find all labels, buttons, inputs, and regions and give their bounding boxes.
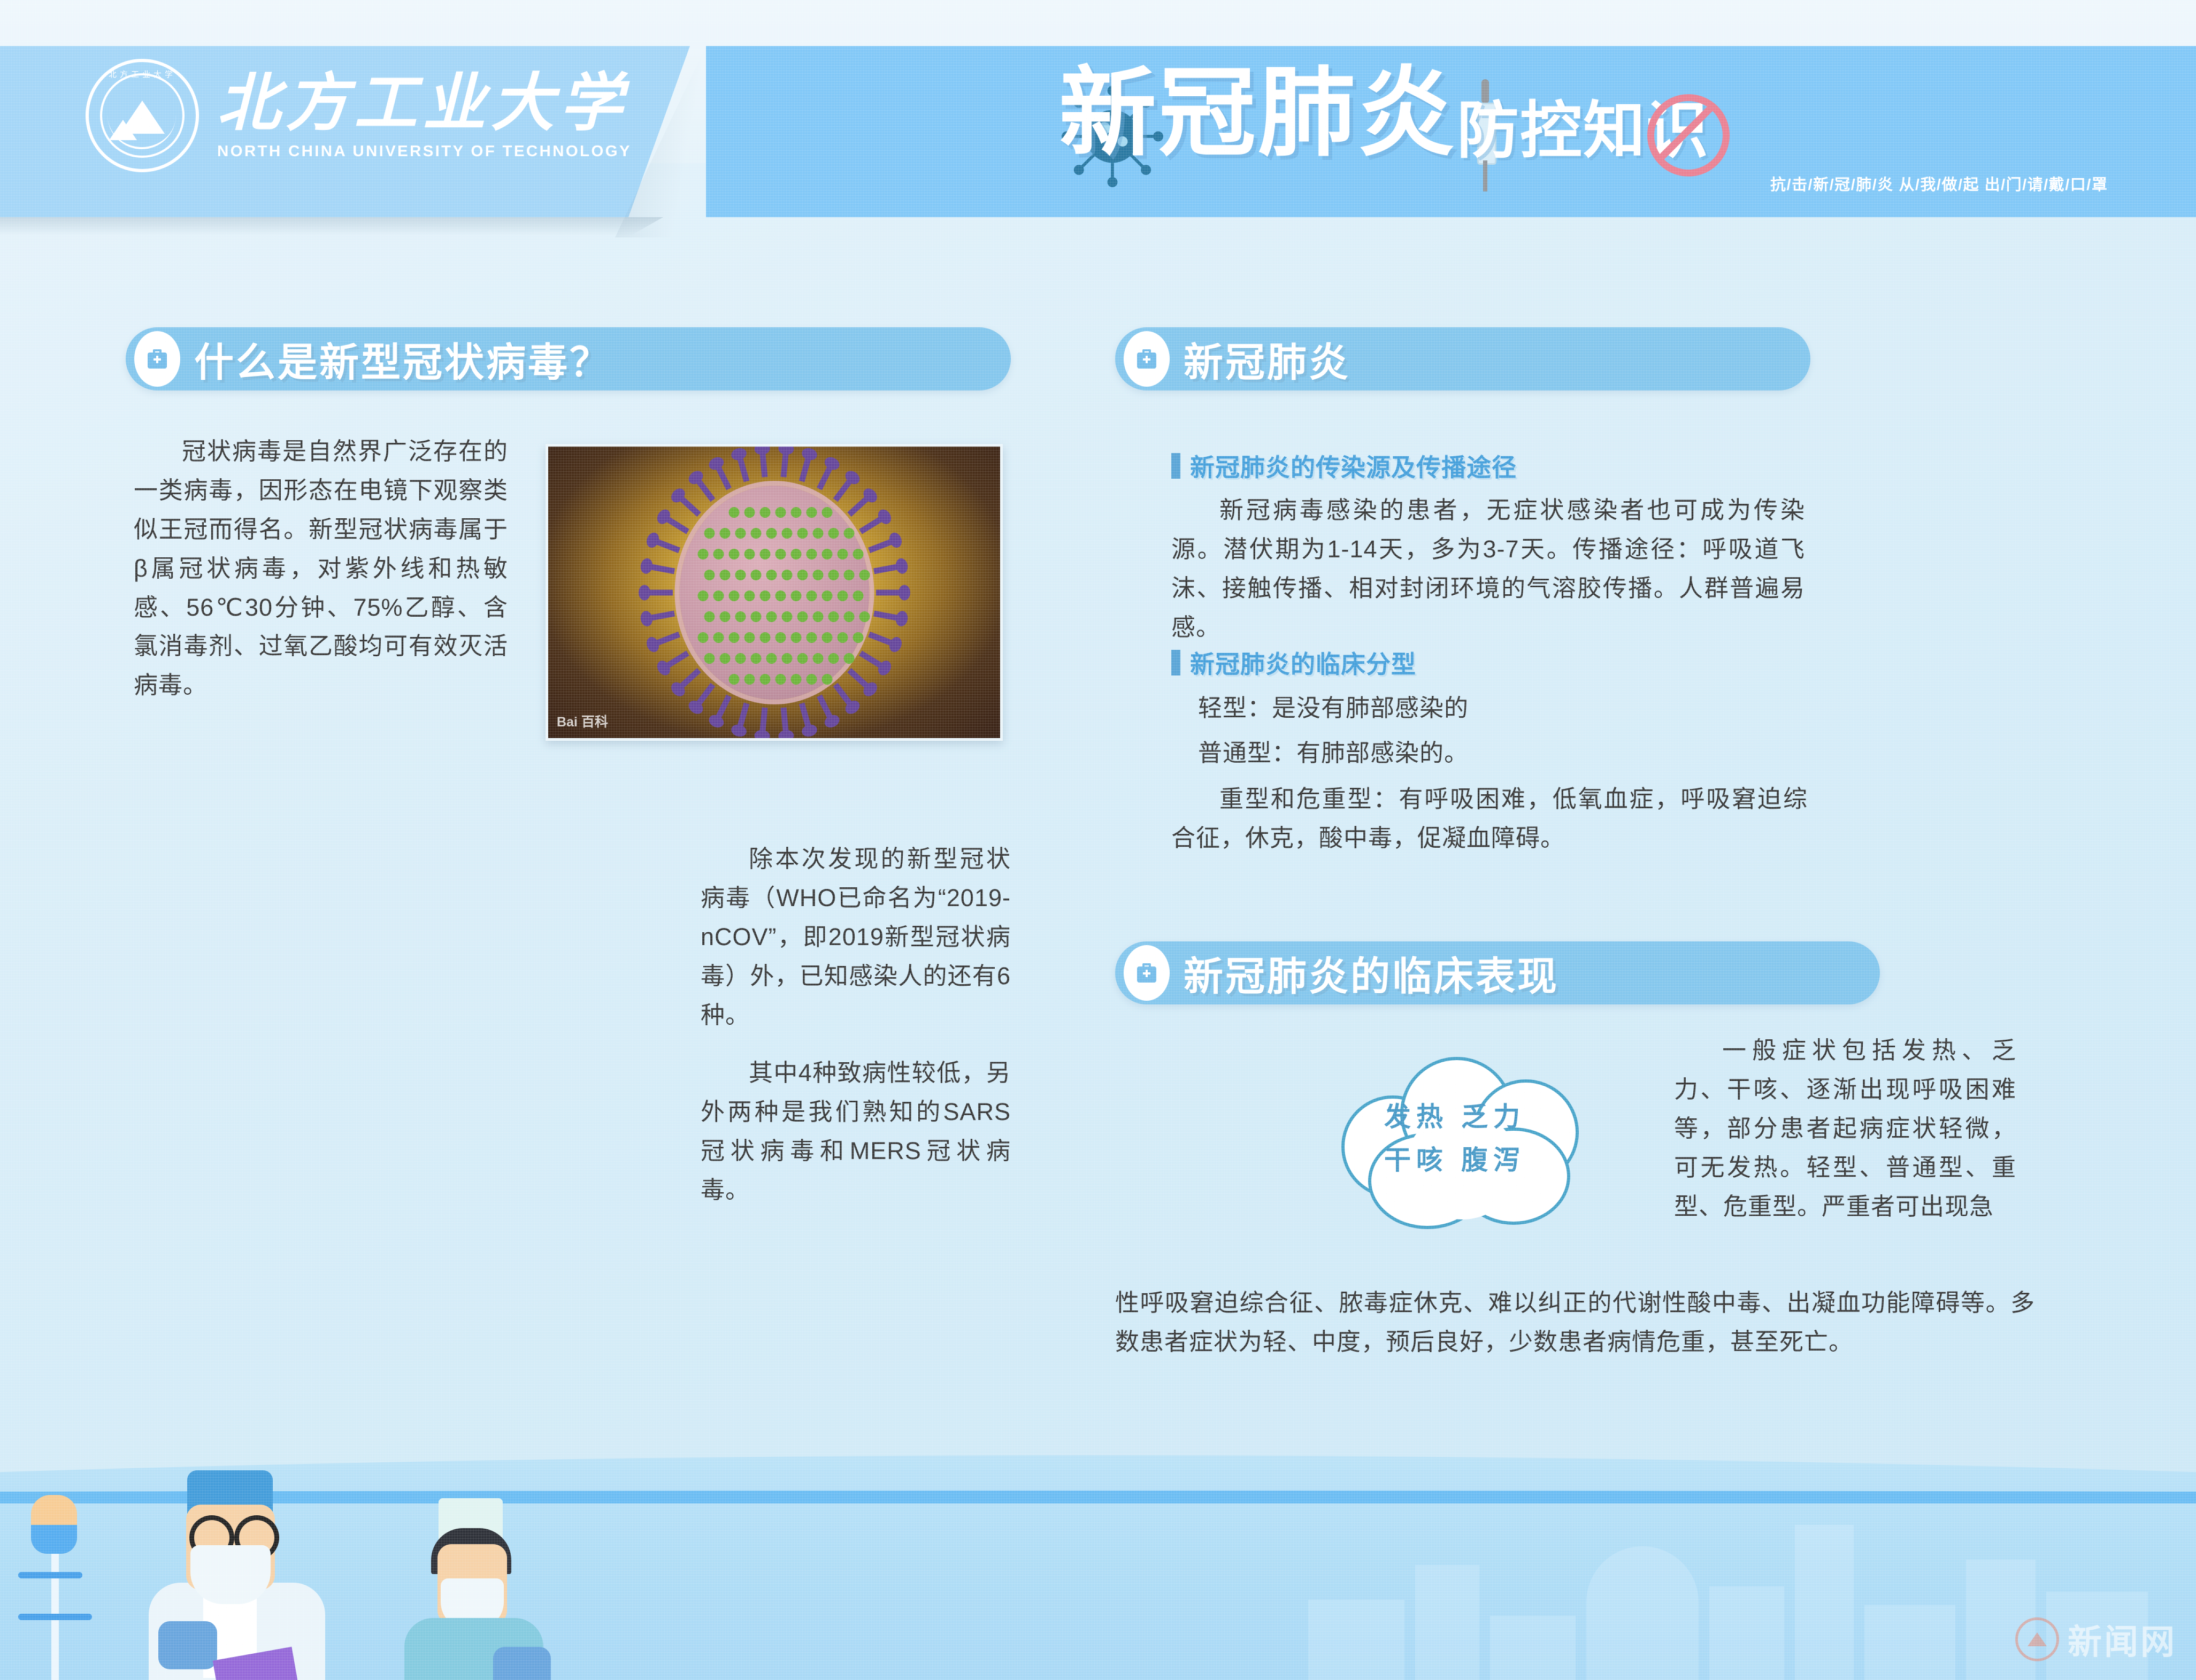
virus-spike (847, 496, 869, 517)
section-title-covid: 新冠肺炎 (1184, 331, 1350, 388)
virus-protein-dot (750, 570, 761, 580)
virus-protein-dot (704, 570, 715, 580)
subheading-clinical-types-label: 新冠肺炎的临床分型 (1190, 645, 1416, 680)
virus-protein-dot (750, 653, 761, 664)
section-header-what-is-covid: 什么是新型冠状病毒？ (126, 327, 1011, 390)
virus-protein-dot (775, 507, 786, 518)
iv-pole-arm-upper (18, 1572, 82, 1578)
virus-protein-dot (766, 570, 777, 580)
virus-protein-dot (806, 549, 817, 559)
virus-protein-dot (697, 549, 708, 559)
virus-protein-dot (812, 611, 823, 622)
virus-spike (655, 539, 680, 554)
virus-protein-dot (728, 632, 739, 643)
virus-protein-dot (828, 570, 839, 580)
virus-protein-dot (728, 590, 739, 601)
virus-protein-dot (766, 611, 777, 622)
prohibition-sign-icon (1647, 94, 1730, 177)
virus-protein-dot (781, 611, 792, 622)
virus-protein-dot (719, 528, 730, 539)
virus-protein-dot (704, 528, 715, 539)
university-name-en: NORTH CHINA UNIVERSITY OF TECHNOLOGY (217, 143, 636, 160)
bottom-doctor-illustration (123, 1466, 353, 1680)
doctor-office-illustration: 医生 (1813, 428, 2177, 856)
subheading-bar (1171, 650, 1180, 676)
virus-protein-dot (806, 590, 817, 601)
virus-protein-dot (790, 507, 801, 518)
virus-protein-dot (859, 570, 870, 580)
virus-protein-dot (728, 674, 739, 685)
virus-protein-dot (766, 653, 777, 664)
virus-protein-dot (853, 632, 863, 643)
virus-protein-dot (821, 674, 832, 685)
virus-spike (876, 589, 901, 595)
subheading-bar (1171, 453, 1180, 479)
hospital-isometric-illustration: 36.6 (86, 834, 669, 1262)
virus-protein-dot (781, 570, 792, 580)
virus-protein-dot (750, 528, 761, 539)
bottom-nurse-illustration (374, 1498, 578, 1680)
virus-protein-dot (759, 674, 770, 685)
virus-spike (833, 479, 853, 502)
virus-spike (859, 651, 883, 669)
virus-protein-dot (735, 570, 746, 580)
national-emblem-icon (2015, 1617, 2059, 1661)
virus-spike (781, 707, 789, 732)
virus-protein-dot (744, 549, 755, 559)
virus-protein-dot (853, 590, 863, 601)
virus-protein-dot (735, 528, 746, 539)
virus-protein-dot (735, 653, 746, 664)
virus-protein-dot (821, 590, 832, 601)
virus-spike (873, 564, 899, 574)
virus-protein-dot (828, 528, 839, 539)
virus-spike (759, 707, 767, 732)
symptom-line-1: 发热 乏力 (1353, 1095, 1556, 1139)
virus-spike (715, 466, 731, 490)
virus-protein-dot (704, 611, 715, 622)
virus-protein-dot (775, 590, 786, 601)
virus-spike (665, 651, 689, 669)
virus-protein-dot (713, 590, 724, 601)
subheading-transmission-label: 新冠肺炎的传染源及传播途径 (1190, 448, 1517, 484)
virus-protein-dot (775, 674, 786, 685)
virus-protein-dot (713, 632, 724, 643)
virus-spike (873, 611, 899, 621)
medical-kit-icon (1124, 331, 1170, 387)
virus-spike (650, 611, 675, 621)
virus-protein-dot (812, 570, 823, 580)
symptom-line-2: 干咳 腹泻 (1353, 1139, 1556, 1182)
virus-protein-dot (837, 632, 848, 643)
virus-protein-dot (719, 611, 730, 622)
virus-protein-dot (759, 590, 770, 601)
virus-protein-dot (744, 507, 755, 518)
medical-kit-icon (134, 331, 180, 387)
virus-spike (799, 703, 811, 728)
virus-spike (868, 631, 893, 646)
virus-protein-dot (797, 528, 808, 539)
virus-protein-dot (812, 653, 823, 664)
clinical-type-mild: 轻型：是没有肺部感染的 (1198, 689, 1808, 728)
virus-protein-dot (697, 590, 708, 601)
virus-spike (737, 457, 749, 482)
virus-protein-dot (797, 611, 808, 622)
virus-spike (868, 539, 893, 554)
virus-spike (696, 479, 715, 502)
virus-protein-dot (797, 653, 808, 664)
subheading-transmission: 新冠肺炎的传染源及传播途径 (1171, 448, 1517, 484)
virus-protein-dot (759, 507, 770, 518)
virus-protein-dot (821, 632, 832, 643)
virus-protein-dot (781, 653, 792, 664)
virus-spike (759, 452, 767, 478)
what-is-covid-paragraph-3: 其中4种致病性较低，另外两种是我们熟知的SARS冠状病毒和MERS冠状病毒。 (701, 1054, 1011, 1210)
virus-protein-dot (797, 570, 808, 580)
section-title-what-is-covid: 什么是新型冠状病毒？ (194, 331, 611, 388)
headline-main: 新冠肺炎 (1059, 64, 1457, 162)
virus-protein-dot (843, 528, 854, 539)
virus-spike (679, 496, 701, 517)
virus-protein-dot (759, 549, 770, 559)
virus-protein-dot (790, 549, 801, 559)
virus-protein-dot (806, 507, 817, 518)
university-name-cn: 北方工业大学 (217, 71, 628, 134)
virus-spike (859, 516, 883, 534)
virus-protein-dot (744, 590, 755, 601)
virus-protein-dot (837, 590, 848, 601)
what-is-covid-paragraph-2: 除本次发现的新型冠状病毒（WHO已命名为“2019-nCOV”，即2019新型冠… (701, 840, 1011, 1034)
virus-spike (799, 457, 811, 482)
patient-in-bed-illustration (1096, 1016, 1348, 1203)
virus-protein-dot (790, 674, 801, 685)
poster-headline: 新冠肺炎 防控知识 (1059, 64, 1709, 162)
virus-protein-dot (806, 674, 817, 685)
clinical-paragraph-right: 一般症状包括发热、乏力、干咳、逐渐出现呼吸困难等，部分患者起病症状轻微，可无发热… (1674, 1031, 2016, 1226)
virus-spike (655, 631, 680, 646)
virus-spike (781, 452, 789, 478)
virus-protein-dot (759, 632, 770, 643)
university-seal-icon: 北方工业大学 (86, 59, 199, 172)
virus-protein-dot (719, 653, 730, 664)
iv-bag-icon (31, 1495, 77, 1554)
virus-protein-dot (719, 570, 730, 580)
virus-protein-dot (843, 653, 854, 664)
virus-protein-dot (828, 653, 839, 664)
transmission-paragraph: 新冠病毒感染的患者，无症状感染者也可成为传染源。潜伏期为1-14天，多为3-7天… (1171, 491, 1805, 647)
virus-protein-dot (735, 611, 746, 622)
virus-spike (817, 694, 833, 719)
virus-spike (679, 668, 701, 689)
virus-protein-dot (821, 549, 832, 559)
clinical-type-common: 普通型：有肺部感染的。 (1198, 734, 1808, 773)
virus-protein-dot (843, 570, 854, 580)
virus-protein-dot (859, 611, 870, 622)
virus-protein-dot (790, 632, 801, 643)
virus-protein-dot (806, 632, 817, 643)
virus-protein-dot (713, 549, 724, 559)
virus-protein-dot (775, 549, 786, 559)
virus-spike (817, 466, 833, 490)
virus-protein-dot (697, 632, 708, 643)
virus-spike (648, 589, 673, 595)
virus-protein-dot (812, 528, 823, 539)
virus-spike (650, 564, 675, 574)
university-logo: 北方工业大学 北方工业大学 NORTH CHINA UNIVERSITY OF … (86, 59, 628, 172)
virus-spike (847, 668, 869, 689)
what-is-covid-paragraph-1: 冠状病毒是自然界广泛存在的一类病毒，因形态在电镜下观察类似王冠而得名。新型冠状病… (134, 432, 508, 705)
section-header-covid: 新冠肺炎 (1115, 327, 1810, 390)
virus-spike (665, 516, 689, 534)
baidu-baike-watermark: Bai 百科 (557, 711, 608, 731)
virus-protein-dot (728, 507, 739, 518)
section-header-clinical: 新冠肺炎的临床表现 (1115, 941, 1880, 1004)
virus-spike (696, 683, 715, 706)
virus-protein-dot (728, 549, 739, 559)
virus-protein-dot (781, 528, 792, 539)
virus-spike (737, 703, 749, 728)
virus-protein-dot (744, 674, 755, 685)
virus-protein-dot (828, 611, 839, 622)
virus-protein-dot (704, 653, 715, 664)
site-watermark: 新闻网 (2015, 1615, 2177, 1664)
seal-cn-text: 北方工业大学 (109, 68, 176, 80)
virus-protein-dot (837, 549, 848, 559)
watermark-label: 新闻网 (2068, 1615, 2177, 1664)
virus-protein-dot (843, 611, 854, 622)
iv-pole-arm (18, 1614, 92, 1620)
virus-protein-dot (775, 632, 786, 643)
virus-protein-dot (766, 528, 777, 539)
virus-protein-dot (750, 611, 761, 622)
clinical-type-severe: 重型和危重型：有呼吸困难，低氧血症，呼吸窘迫综合征，休克，酸中毒，促凝血障碍。 (1171, 780, 1808, 858)
headline-tagline: 抗/击/新/冠/肺/炎 从/我/做/起 出/门/请/戴/口/罩 (1770, 172, 2108, 195)
medical-kit-icon (1124, 945, 1170, 1001)
virus-spike (715, 694, 731, 719)
coronavirus-micrograph-image: Bai 百科 (546, 444, 1003, 741)
poster-canvas: 北方工业大学 北方工业大学 NORTH CHINA UNIVERSITY OF … (0, 0, 2196, 1680)
virus-protein-dot (790, 590, 801, 601)
subheading-clinical-types: 新冠肺炎的临床分型 (1171, 645, 1416, 680)
clinical-paragraph-full: 性呼吸窘迫综合征、脓毒症休克、难以纠正的代谢性酸中毒、出凝血功能障碍等。多数患者… (1115, 1284, 2035, 1362)
virus-protein-dot (744, 632, 755, 643)
virus-protein-dot (853, 549, 863, 559)
virus-core (679, 486, 869, 700)
section-title-clinical: 新冠肺炎的临床表现 (1184, 945, 1559, 1002)
symptom-bubble-text: 发热 乏力 干咳 腹泻 (1353, 1095, 1556, 1182)
virus-protein-dot (821, 507, 832, 518)
virus-spike (833, 683, 853, 706)
logo-band-shadow (0, 217, 663, 235)
